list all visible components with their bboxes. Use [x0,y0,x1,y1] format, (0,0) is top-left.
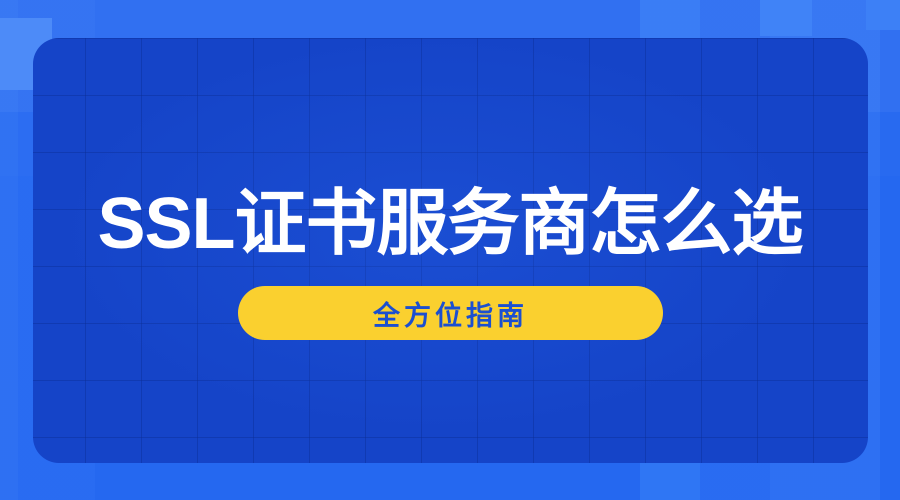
banner-content: SSL证书服务商怎么选 [0,0,900,500]
subtitle-pill-badge: 全方位指南 [238,286,663,340]
banner-headline: SSL证书服务商怎么选 [97,188,802,260]
ssl-certificate-promo-banner: SSL证书服务商怎么选 全方位指南 [0,0,900,500]
subtitle-pill-label: 全方位指南 [373,294,528,333]
